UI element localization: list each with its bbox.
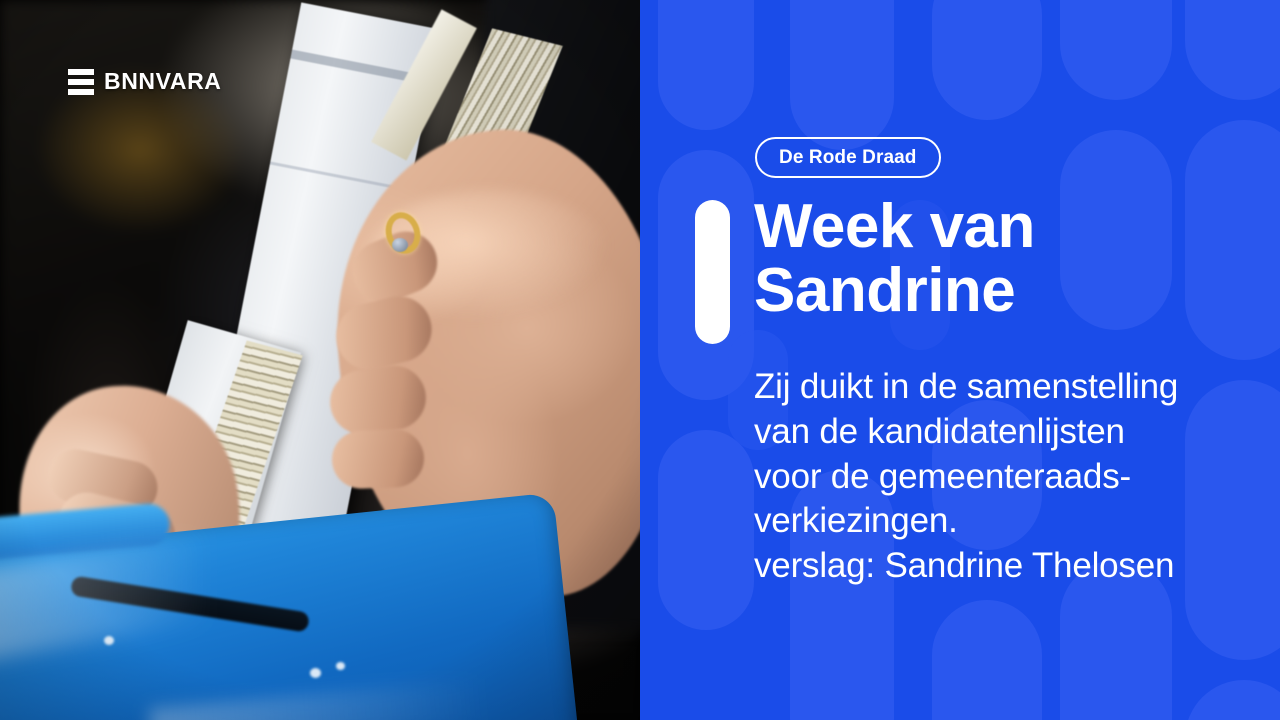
background-pill-pattern: [640, 0, 1280, 720]
info-panel: radio De Rode Draad Week van Sandrine Zi…: [640, 0, 1280, 720]
ballot-photo: BNNVARA: [0, 0, 640, 720]
ballot-box-speck-3: [336, 662, 345, 670]
ballot-box-speck-2: [310, 668, 321, 678]
bnnvara-wordmark: BNNVARA: [104, 68, 222, 95]
programme-badge[interactable]: De Rode Draad: [755, 137, 941, 178]
finger-little: [331, 428, 425, 489]
page-title: Week van Sandrine: [754, 195, 1035, 323]
bnnvara-logo: BNNVARA: [68, 68, 222, 95]
ballot-box-speck-1: [104, 636, 114, 645]
episode-description: Zij duikt in de samenstelling van de kan…: [754, 365, 1266, 589]
title-block: Week van Sandrine: [695, 195, 1035, 344]
bnnvara-bars-icon: [68, 69, 94, 95]
player-artwork-stage: BNNVARA: [0, 0, 1280, 720]
ring-stone: [392, 238, 408, 252]
title-accent-bar: [695, 200, 730, 344]
